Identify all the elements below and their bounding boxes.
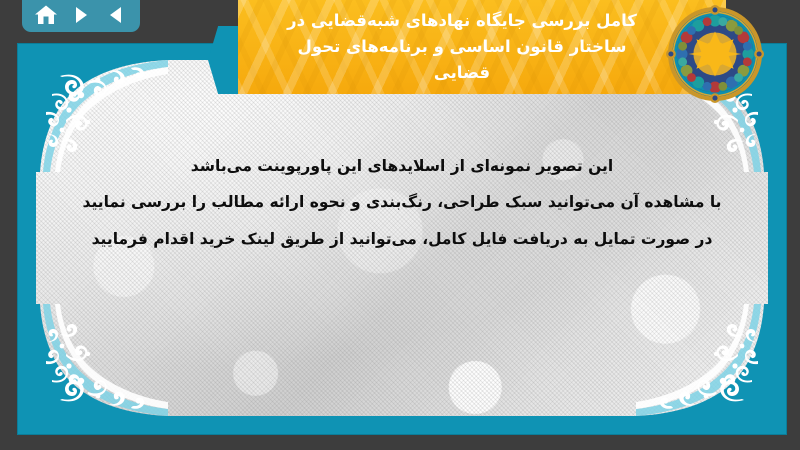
home-button[interactable] [33,2,59,28]
slide-canvas: این تصویر نمونه‌ای از اسلایدهای این پاور… [36,60,768,416]
title-line-3: قضایی [287,60,637,85]
home-icon [34,4,58,26]
next-slide-button[interactable] [68,2,94,28]
arrow-left-icon [105,4,127,26]
title-line-2: ساختار قانون اساسی و برنامه‌های تحول [287,34,637,59]
medallion-icon [666,5,764,103]
body-line-3: در صورت تمایل به دریافت فایل کامل، می‌تو… [76,221,728,257]
previous-slide-button[interactable] [103,2,129,28]
presentation-slide: این تصویر نمونه‌ای از اسلایدهای این پاور… [0,0,800,450]
title-banner: کامل بررسی جایگاه نهادهای شبه‌قضایی در س… [208,0,726,104]
persian-medallion-ornament [666,5,764,103]
slide-navigation-bar [22,0,140,32]
slide-body-text: این تصویر نمونه‌ای از اسلایدهای این پاور… [76,148,728,257]
body-line-2: با مشاهده آن می‌توانید سبک طراحی، رنگ‌بن… [76,184,728,220]
banner-gold-bar: کامل بررسی جایگاه نهادهای شبه‌قضایی در س… [238,0,726,94]
body-line-1: این تصویر نمونه‌ای از اسلایدهای این پاور… [76,148,728,184]
title-line-1: کامل بررسی جایگاه نهادهای شبه‌قضایی در [287,8,637,33]
arrow-right-icon [70,4,92,26]
corner-ornament-bottom-left [36,304,168,416]
corner-ornament-bottom-right [636,304,768,416]
slide-title: کامل بررسی جایگاه نهادهای شبه‌قضایی در س… [269,9,695,84]
